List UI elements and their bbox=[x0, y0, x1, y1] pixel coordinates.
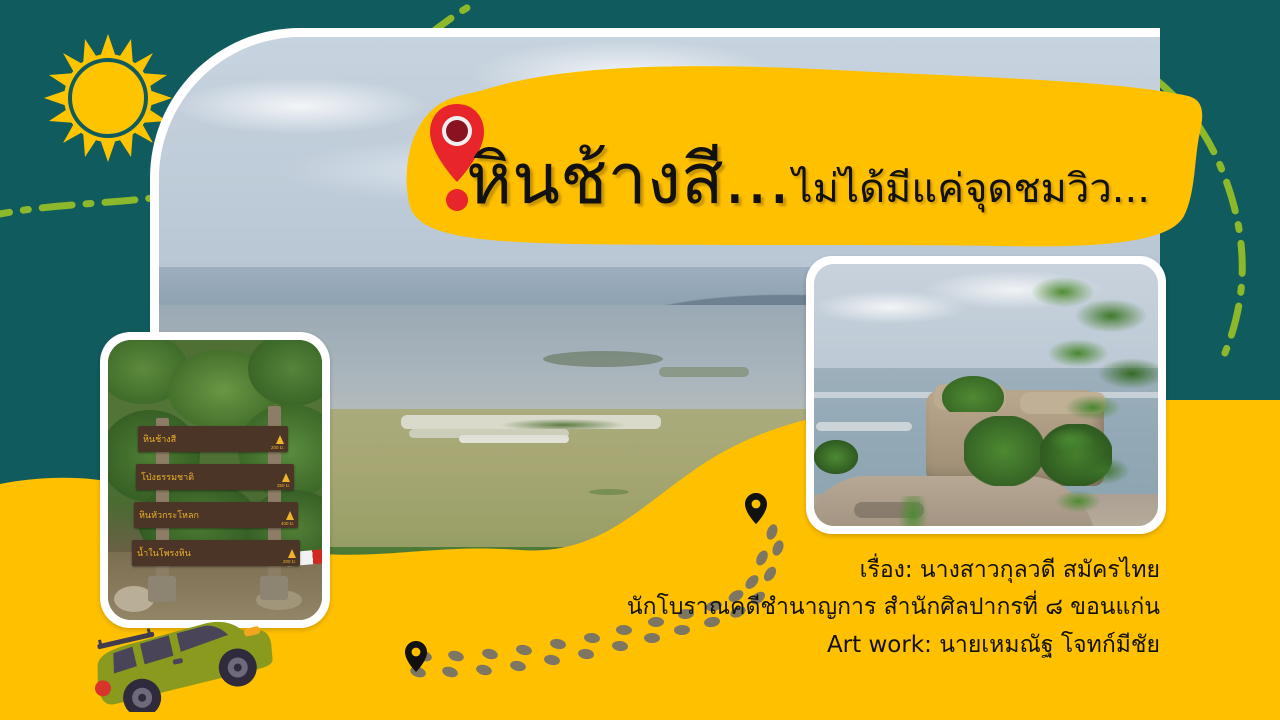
title-main-text: หินช้างสี... bbox=[466, 145, 790, 214]
arrow-up-icon bbox=[276, 435, 284, 444]
signboard-distance: 350 ม. bbox=[277, 482, 290, 489]
signboard-row: หินช้างสี 200 ม. bbox=[138, 426, 288, 452]
credit-author: เรื่อง: นางสาวกุลวดี สมัครไทย bbox=[420, 552, 1160, 589]
suv-jeep-icon bbox=[78, 608, 286, 712]
arrow-up-icon bbox=[286, 511, 294, 520]
signboard-label: หินช้างสี bbox=[143, 432, 176, 446]
signboard-row: น้ำในโพรงหิน 200 ม. bbox=[132, 540, 300, 566]
signboard-label: น้ำในโพรงหิน bbox=[137, 546, 191, 560]
signboard-distance: 200 ม. bbox=[271, 444, 284, 451]
signboard-label: หินหัวกระโหลก bbox=[139, 508, 199, 522]
poster-canvas: หินช้างสี... ไม่ได้มีแค่จุดชมวิว... bbox=[0, 0, 1280, 720]
map-pin-icon bbox=[744, 492, 768, 526]
trail-direction-signboards-photo: หินช้างสี 200 ม. โป่งธรรมชาติ 350 ม. หิน… bbox=[108, 340, 322, 620]
signboard-distance: 400 ม. bbox=[281, 520, 294, 527]
signboard-distance: 200 ม. bbox=[283, 558, 296, 565]
arrow-up-icon bbox=[282, 473, 290, 482]
mushroom-rock-formation-photo bbox=[814, 264, 1158, 526]
arrow-up-icon bbox=[288, 549, 296, 558]
page-title: หินช้างสี... ไม่ได้มีแค่จุดชมวิว... bbox=[466, 118, 1256, 214]
credit-affiliation: นักโบราณคดีชำนาญการ สำนักศิลปากรที่ ๘ ขอ… bbox=[420, 589, 1160, 626]
credit-artwork: Art work: นายเหมณัฐ โจทก์มีชัย bbox=[420, 627, 1160, 664]
mushroom-rock-formation-photo-frame bbox=[806, 256, 1166, 534]
title-sub-text: ไม่ได้มีแค่จุดชมวิว... bbox=[792, 168, 1149, 214]
trail-direction-signboards-photo-frame: หินช้างสี 200 ม. โป่งธรรมชาติ 350 ม. หิน… bbox=[100, 332, 330, 628]
credits-block: เรื่อง: นางสาวกุลวดี สมัครไทย นักโบราณคด… bbox=[420, 552, 1160, 664]
signboard-label: โป่งธรรมชาติ bbox=[141, 470, 194, 484]
signboard-row: โป่งธรรมชาติ 350 ม. bbox=[136, 464, 294, 490]
signboard-row: หินหัวกระโหลก 400 ม. bbox=[134, 502, 298, 528]
